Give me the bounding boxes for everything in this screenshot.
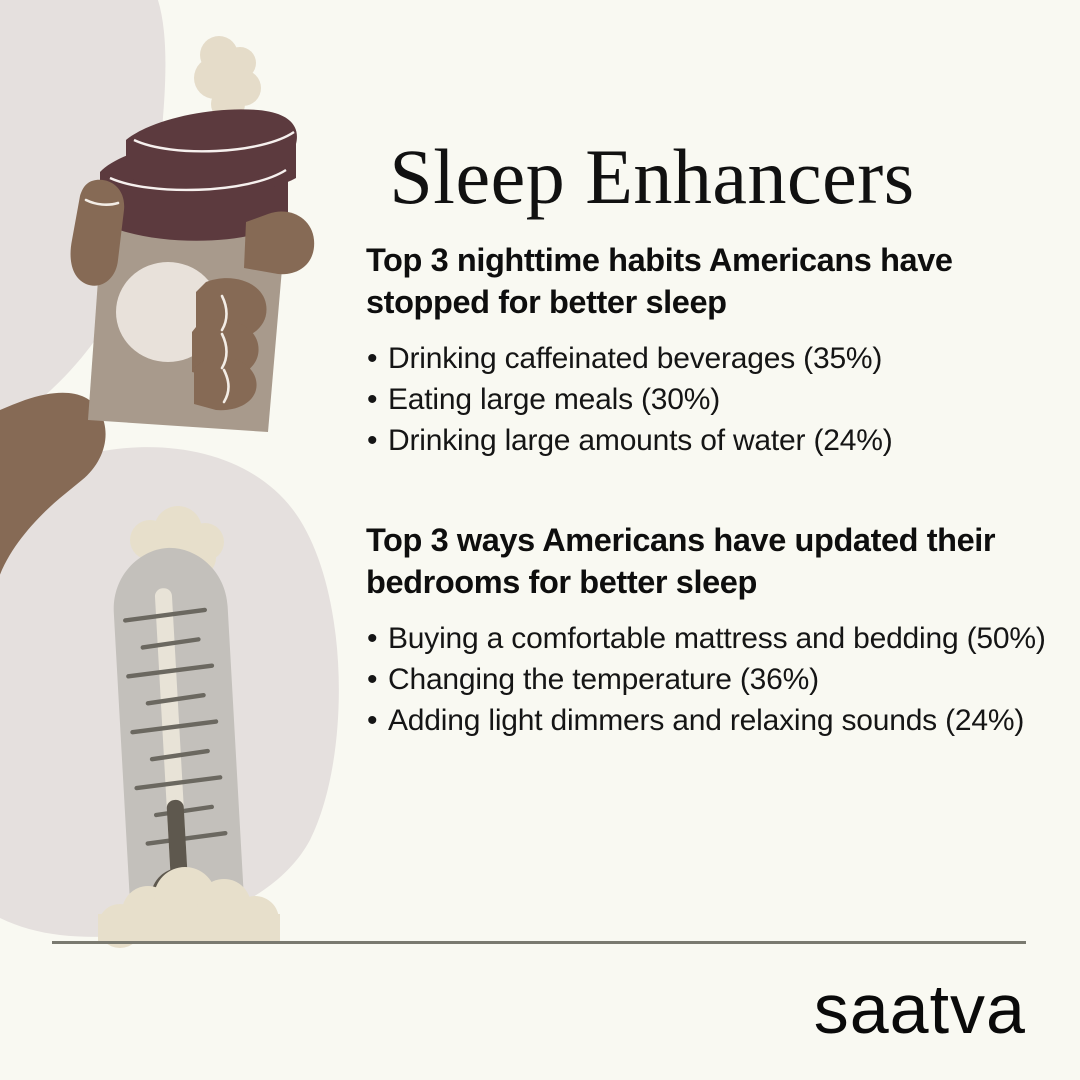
- list-item-text: Eating large meals (30%): [388, 383, 720, 416]
- infographic-canvas: Sleep Enhancers Top 3 nighttime habits A…: [0, 0, 1080, 1080]
- list-item-text: Adding light dimmers and relaxing sounds…: [388, 704, 1024, 737]
- list-item-text: Changing the temperature (36%): [388, 663, 819, 696]
- bullet-marker-icon: •: [367, 701, 377, 740]
- bullet-marker-icon: •: [367, 339, 377, 378]
- section-bedroom-updates: Top 3 ways Americans have updated their …: [366, 520, 1052, 742]
- list-item: • Buying a comfortable mattress and bedd…: [366, 619, 1052, 658]
- list-item-text: Buying a comfortable mattress and beddin…: [388, 622, 1046, 655]
- section-heading: Top 3 nighttime habits Americans have st…: [366, 240, 1052, 323]
- list-item: • Changing the temperature (36%): [366, 660, 1052, 699]
- footer-divider: [52, 941, 1026, 944]
- list-item: • Eating large meals (30%): [366, 380, 1052, 419]
- bullet-marker-icon: •: [367, 619, 377, 658]
- steam-puffs-icon: [194, 36, 261, 121]
- saatva-logo: saatva: [814, 974, 1026, 1044]
- list-item: • Drinking large amounts of water (24%): [366, 421, 1052, 460]
- bullet-marker-icon: •: [367, 660, 377, 699]
- page-title: Sleep Enhancers: [352, 138, 952, 216]
- list-item-text: Drinking large amounts of water (24%): [388, 424, 893, 457]
- illustration-panel: [0, 0, 360, 1080]
- section-nighttime-habits: Top 3 nighttime habits Americans have st…: [366, 240, 1052, 462]
- bullet-list: • Drinking caffeinated beverages (35%) •…: [366, 339, 1052, 460]
- content-column: Sleep Enhancers Top 3 nighttime habits A…: [352, 0, 1052, 1080]
- section-heading: Top 3 ways Americans have updated their …: [366, 520, 1052, 603]
- list-item: • Adding light dimmers and relaxing soun…: [366, 701, 1052, 740]
- list-item: • Drinking caffeinated beverages (35%): [366, 339, 1052, 378]
- bullet-marker-icon: •: [367, 421, 377, 460]
- bullet-marker-icon: •: [367, 380, 377, 419]
- bullet-list: • Buying a comfortable mattress and bedd…: [366, 619, 1052, 740]
- list-item-text: Drinking caffeinated beverages (35%): [388, 342, 882, 375]
